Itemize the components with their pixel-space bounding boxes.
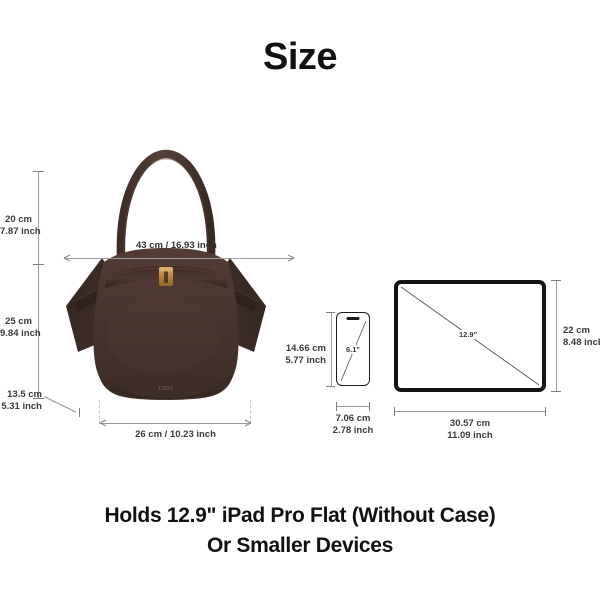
phone-width-label: 7.06 cm 2.78 inch [323,413,383,437]
tablet-height-tick-top [551,280,561,281]
tablet-height-tick-bottom [551,391,561,392]
caption-line-1: Holds 12.9" iPad Pro Flat (Without Case) [0,504,600,528]
phone-height-label: 14.66 cm 5.77 inch [278,343,326,367]
phone-width-tick-right [369,402,370,411]
caption-line-2: Or Smaller Devices [0,534,600,558]
phone-height-tick-bottom [326,386,335,387]
tablet-height-rule [556,280,557,392]
tablet-width-tick-right [545,407,546,416]
phone-height-tick-top [326,312,335,313]
phone-width-rule [336,406,370,407]
tablet-width-tick-left [394,407,395,416]
tablet-diagonal-label: 12.9" [458,330,478,339]
phone-width-tick-left [336,402,337,411]
tablet-width-rule [394,411,546,412]
tablet-height-label: 22 cm 8.48 inch [563,325,600,349]
bag-base-width-label: 26 cm / 10.23 inch [100,429,251,441]
phone-diagonal-label: 6.1" [345,345,361,354]
tablet-width-label: 30.57 cm 11.09 inch [394,418,546,442]
size-infographic: Size [0,0,600,600]
phone-height-rule [331,312,332,386]
